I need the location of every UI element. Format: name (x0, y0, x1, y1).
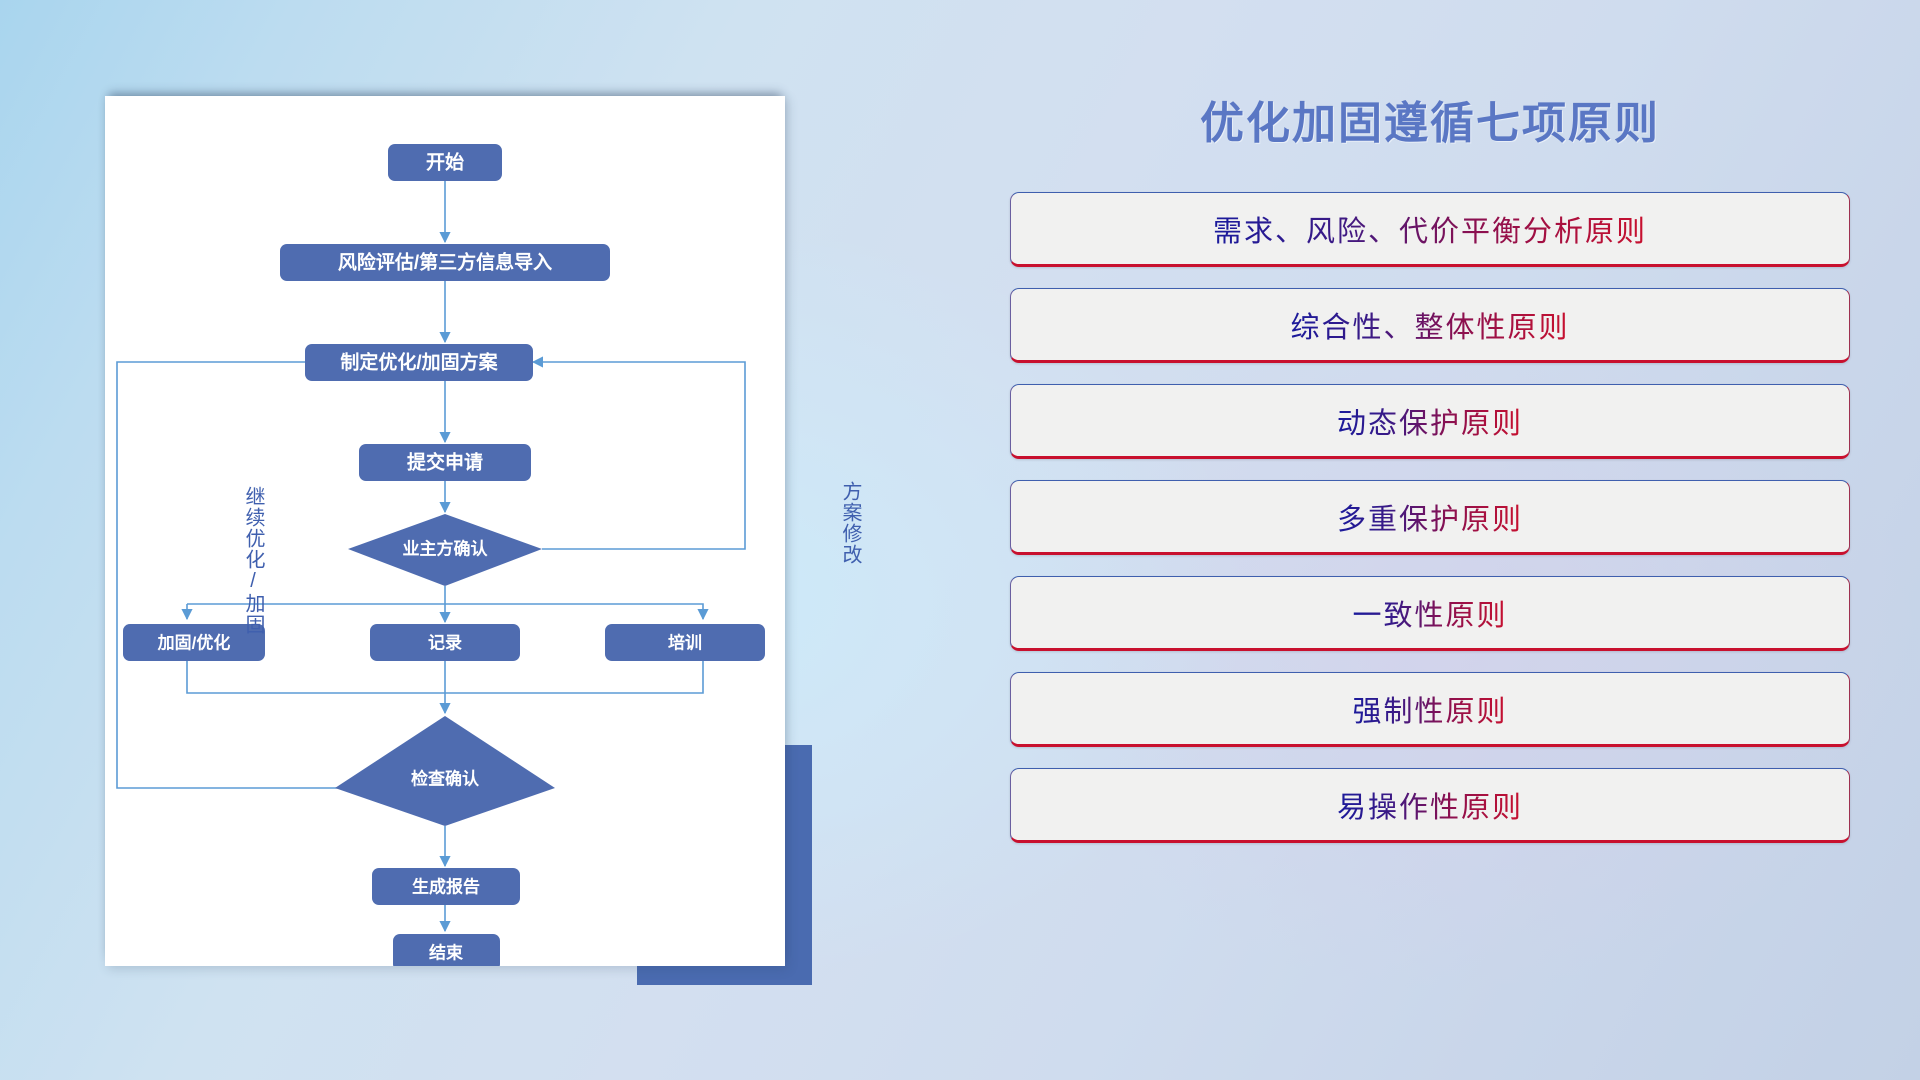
node-start-label: 开始 (426, 151, 464, 174)
edge-label-continue-optimize: 继续优化/加固 (243, 486, 263, 635)
principle-label: 一致性原则 (1352, 592, 1507, 634)
principle-item[interactable]: 易操作性原则 (1010, 768, 1850, 843)
node-owner-confirm[interactable]: 业主方确认 (348, 514, 542, 586)
connector-check-feedback-plan (117, 362, 363, 788)
principle-item[interactable]: 多重保护原则 (1010, 480, 1850, 555)
node-record[interactable]: 记录 (370, 624, 520, 661)
flowchart-diagram: 开始 风险评估/第三方信息导入 制定优化/加固方案 提交申请 业主方确认 加固/ (105, 96, 785, 966)
node-owner-confirm-label: 业主方确认 (403, 539, 489, 559)
principles-panel: 优化加固遵循七项原则 需求、风险、代价平衡分析原则 综合性、整体性原则 动态保护… (1010, 100, 1850, 1000)
node-end[interactable]: 结束 (393, 934, 500, 966)
node-submit-application[interactable]: 提交申请 (359, 444, 531, 481)
node-risk-assessment[interactable]: 风险评估/第三方信息导入 (280, 244, 610, 281)
principle-label: 多重保护原则 (1337, 496, 1523, 538)
principle-label: 综合性、整体性原则 (1290, 304, 1569, 346)
node-make-plan-label: 制定优化/加固方案 (340, 351, 498, 374)
node-end-label: 结束 (429, 943, 463, 963)
slide-canvas: 开始 风险评估/第三方信息导入 制定优化/加固方案 提交申请 业主方确认 加固/ (0, 0, 1920, 1080)
node-record-label: 记录 (428, 634, 462, 653)
principles-title: 优化加固遵循七项原则 (1010, 100, 1850, 148)
node-start[interactable]: 开始 (388, 144, 502, 181)
node-submit-application-label: 提交申请 (407, 451, 483, 474)
principle-label: 易操作性原则 (1337, 784, 1523, 826)
node-check-confirm-label: 检查确认 (411, 769, 480, 789)
node-check-confirm[interactable]: 检查确认 (335, 716, 555, 826)
edge-label-plan-revision: 方案修改 (840, 481, 860, 565)
principle-item[interactable]: 综合性、整体性原则 (1010, 288, 1850, 363)
node-training-label: 培训 (668, 633, 702, 653)
connector-owner-feedback-plan (533, 362, 745, 549)
node-reinforce-optimize-label: 加固/优化 (157, 633, 231, 653)
node-generate-report[interactable]: 生成报告 (372, 868, 520, 905)
node-make-plan[interactable]: 制定优化/加固方案 (305, 344, 533, 381)
principle-item[interactable]: 需求、风险、代价平衡分析原则 (1010, 192, 1850, 267)
node-training[interactable]: 培训 (605, 624, 765, 661)
principle-label: 动态保护原则 (1337, 400, 1523, 442)
principle-item[interactable]: 动态保护原则 (1010, 384, 1850, 459)
principle-label: 需求、风险、代价平衡分析原则 (1213, 208, 1647, 250)
principle-item[interactable]: 强制性原则 (1010, 672, 1850, 747)
principle-label: 强制性原则 (1352, 688, 1507, 730)
flowchart-card: 开始 风险评估/第三方信息导入 制定优化/加固方案 提交申请 业主方确认 加固/ (105, 96, 785, 966)
connector-bus-to-training (445, 604, 703, 619)
node-generate-report-label: 生成报告 (412, 877, 480, 897)
principle-item[interactable]: 一致性原则 (1010, 576, 1850, 651)
node-risk-assessment-label: 风险评估/第三方信息导入 (338, 251, 552, 274)
principles-list: 需求、风险、代价平衡分析原则 综合性、整体性原则 动态保护原则 多重保护原则 一… (1010, 192, 1850, 843)
